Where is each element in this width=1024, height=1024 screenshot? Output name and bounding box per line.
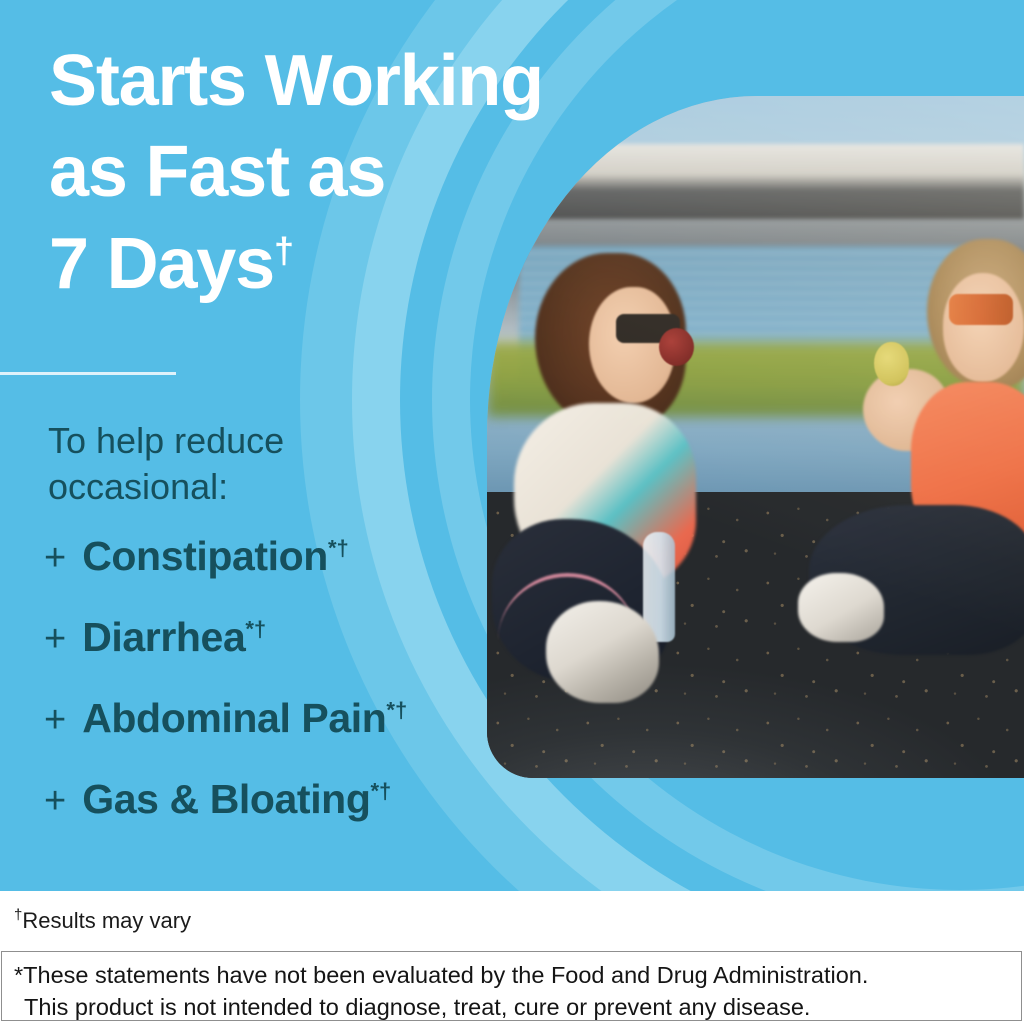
- results-disclaimer-text: †Results may vary: [14, 908, 191, 934]
- section-divider: [0, 372, 176, 375]
- benefit-label-abdominal-pain-text: Abdominal Pain: [82, 695, 386, 741]
- headline-line-3-text: 7 Days: [49, 224, 274, 304]
- benefit-superscript-constipation: *†: [328, 535, 349, 560]
- benefit-superscript-gas-bloating: *†: [370, 778, 391, 803]
- benefit-superscript-diarrhea: *†: [245, 616, 266, 641]
- headline-line-2: as Fast as: [49, 127, 689, 218]
- benefit-item-abdominal-pain: + Abdominal Pain*†: [44, 698, 514, 739]
- fda-disclaimer-line-1: *These statements have not been evaluate…: [14, 959, 1021, 991]
- headline-line-1: Starts Working: [49, 36, 689, 127]
- lead-text: To help reduce occasional:: [48, 418, 388, 510]
- promo-poster: Starts Working as Fast as 7 Days† To hel…: [0, 0, 1024, 1024]
- results-note-text: Results may vary: [22, 908, 191, 933]
- plus-icon: +: [44, 620, 66, 658]
- benefit-label-constipation-text: Constipation: [82, 533, 328, 579]
- plus-icon: +: [44, 539, 66, 577]
- benefit-item-gas-bloating: + Gas & Bloating*†: [44, 779, 514, 820]
- benefit-label-constipation: Constipation*†: [82, 536, 349, 577]
- fda-disclaimer-box: *These statements have not been evaluate…: [1, 951, 1022, 1021]
- benefit-item-diarrhea: + Diarrhea*†: [44, 617, 514, 658]
- benefit-superscript-abdominal-pain: *†: [386, 697, 407, 722]
- lead-line-1: To help reduce: [48, 418, 388, 464]
- benefit-label-gas-bloating: Gas & Bloating*†: [82, 779, 391, 820]
- benefit-label-abdominal-pain: Abdominal Pain*†: [82, 698, 407, 739]
- benefit-label-diarrhea-text: Diarrhea: [82, 614, 245, 660]
- benefit-label-diarrhea: Diarrhea*†: [82, 617, 266, 658]
- results-disclaimer: †Results may vary: [0, 891, 1024, 951]
- blue-background-panel: Starts Working as Fast as 7 Days† To hel…: [0, 0, 1024, 891]
- benefit-label-gas-bloating-text: Gas & Bloating: [82, 776, 370, 822]
- headline-line-3: 7 Days†: [49, 219, 689, 310]
- benefit-list: + Constipation*† + Diarrhea*† + Abdomina…: [44, 536, 514, 860]
- headline-dagger-superscript: †: [274, 230, 294, 271]
- plus-icon: +: [44, 701, 66, 739]
- benefit-item-constipation: + Constipation*†: [44, 536, 514, 577]
- lead-line-2: occasional:: [48, 464, 388, 510]
- plus-icon: +: [44, 782, 66, 820]
- headline: Starts Working as Fast as 7 Days†: [49, 36, 689, 310]
- fda-disclaimer-line-2: This product is not intended to diagnose…: [14, 991, 1021, 1023]
